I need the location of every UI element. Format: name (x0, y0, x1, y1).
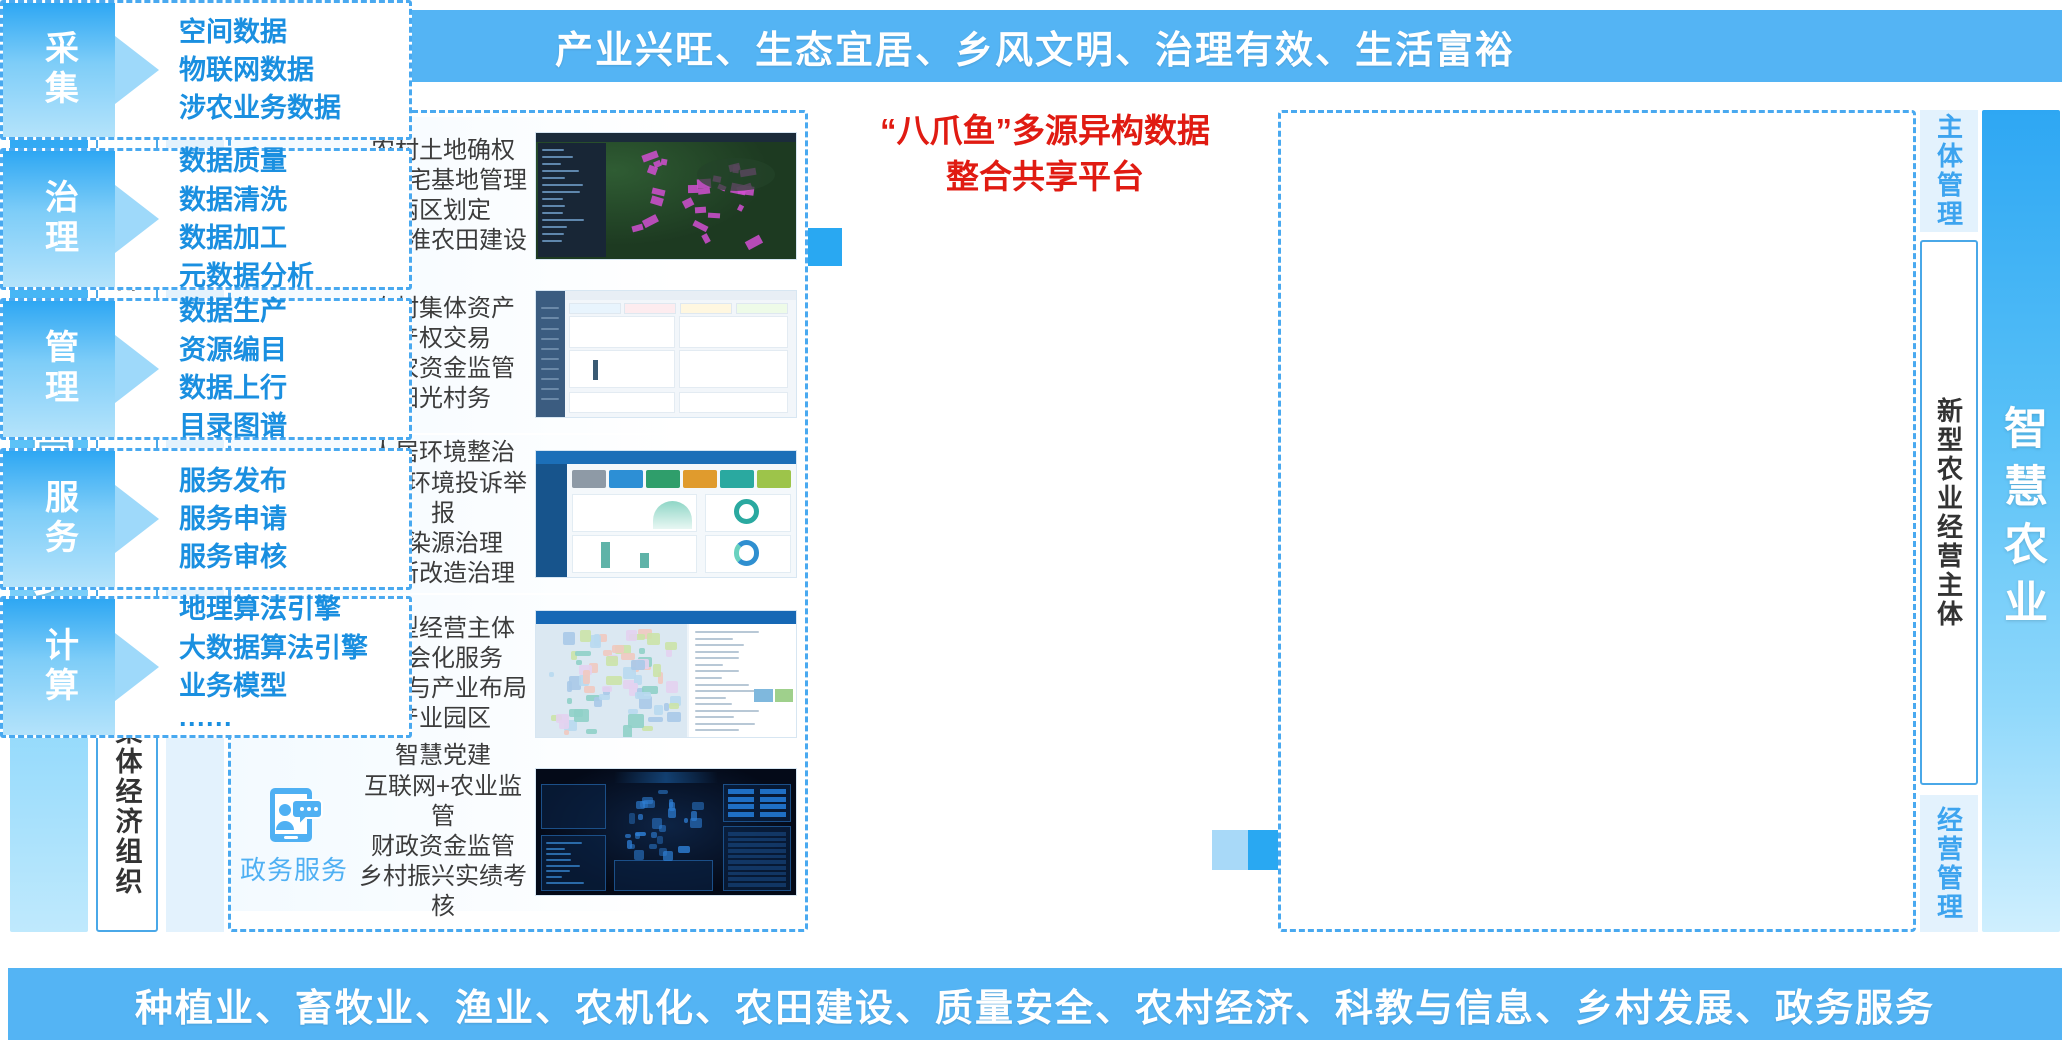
stage-item: 数据加工 (179, 219, 409, 257)
group-column-entity-management: 主体管理 (1920, 110, 1978, 232)
infographic-page: 产业兴旺、生态宜居、乡风文明、治理有效、生活富裕 数字·乡村 村党支部 村委会 … (0, 0, 2070, 1050)
stage-item: 大数据算法引擎 (179, 629, 409, 667)
platform-stage-block[interactable]: 管理数据生产资源编目数据上行目录图谱 (0, 298, 412, 440)
satellite-map-screenshot (536, 133, 796, 259)
domain-screenshot[interactable] (535, 768, 797, 896)
stage-label: 计算 (3, 599, 115, 735)
stage-label: 服务 (3, 451, 115, 587)
stage-item: 涉农业务数据 (179, 89, 409, 127)
stage-item-list: 数据质量数据清洗数据加工元数据分析 (115, 151, 409, 287)
stage-item: 物联网数据 (179, 51, 409, 89)
stage-item: 业务模型 (179, 667, 409, 705)
domain-item: 互联网+农业监管 (357, 772, 529, 832)
org-box-new-agri-business-entity[interactable]: 新型农业经营主体 (1920, 240, 1978, 785)
kpi-dashboard-screenshot (536, 451, 796, 577)
connector-left-to-center (808, 228, 842, 266)
village-domain-row[interactable]: 政务服务智慧党建互联网+农业监管财政资金监管乡村振兴实绩考核 (231, 753, 805, 911)
domain-screenshot[interactable] (535, 290, 797, 418)
group-column-business-management: 经营管理 (1920, 795, 1978, 932)
domain-item: 智慧党建 (357, 741, 529, 771)
gis-map-screenshot (536, 611, 796, 737)
stage-item-list: 数据生产资源编目数据上行目录图谱 (115, 301, 409, 437)
stage-item: 元数据分析 (179, 257, 409, 295)
domain-screenshot[interactable] (535, 610, 797, 738)
domain-item: 乡村振兴实绩考核 (357, 862, 529, 922)
stage-item: 服务申请 (179, 500, 409, 538)
stage-item: 数据生产 (179, 292, 409, 330)
stage-item: 空间数据 (179, 13, 409, 51)
stage-item: 地理算法引擎 (179, 590, 409, 628)
stage-item: ······ (179, 705, 409, 743)
domain-screenshot[interactable] (535, 132, 797, 260)
stage-label: 治理 (3, 151, 115, 287)
center-title-line2: 整合共享平台 (820, 154, 1270, 200)
center-title-line1: “八爪鱼”多源异构数据 (820, 108, 1270, 154)
tablet-person-icon (262, 778, 326, 844)
platform-stage-block[interactable]: 服务服务发布服务申请服务审核 (0, 448, 412, 590)
stage-item: 数据质量 (179, 142, 409, 180)
center-platform-title: “八爪鱼”多源异构数据 整合共享平台 (820, 108, 1270, 199)
domain-caption: 政务服务 (240, 850, 348, 887)
connector-center-to-right (1246, 830, 1278, 870)
stage-item: 数据清洗 (179, 181, 409, 219)
dark-command-center-screenshot (536, 769, 796, 895)
connector-center-to-right-soft (1212, 830, 1248, 870)
domain-icon-block: 政务服务 (231, 778, 357, 887)
stage-item-list: 地理算法引擎大数据算法引擎业务模型······ (115, 599, 409, 735)
platform-stage-block[interactable]: 采集空间数据物联网数据涉农业务数据 (0, 0, 412, 140)
stage-item: 资源编目 (179, 331, 409, 369)
domain-item: 财政资金监管 (357, 832, 529, 862)
right-rail-title: 智慧农业 (1982, 110, 2060, 932)
stage-item: 服务发布 (179, 462, 409, 500)
platform-stage-block[interactable]: 计算地理算法引擎大数据算法引擎业务模型······ (0, 596, 412, 738)
data-platform-panel: 采集空间数据物联网数据涉农业务数据治理数据质量数据清洗数据加工元数据分析管理数据… (0, 0, 412, 740)
stage-item: 目录图谱 (179, 407, 409, 445)
stage-label: 采集 (3, 3, 115, 137)
analytics-dashboard-screenshot (536, 291, 796, 417)
bottom-banner: 种植业、畜牧业、渔业、农机化、农田建设、质量安全、农村经济、科教与信息、乡村发展… (8, 968, 2062, 1040)
platform-stage-block[interactable]: 治理数据质量数据清洗数据加工元数据分析 (0, 148, 412, 290)
stage-label: 管理 (3, 301, 115, 437)
stage-item: 服务审核 (179, 538, 409, 576)
smart-agriculture-panel (1278, 110, 1916, 932)
stage-item-list: 服务发布服务申请服务审核 (115, 451, 409, 587)
domain-screenshot[interactable] (535, 450, 797, 578)
stage-item-list: 空间数据物联网数据涉农业务数据 (115, 3, 409, 137)
stage-item: 数据上行 (179, 369, 409, 407)
